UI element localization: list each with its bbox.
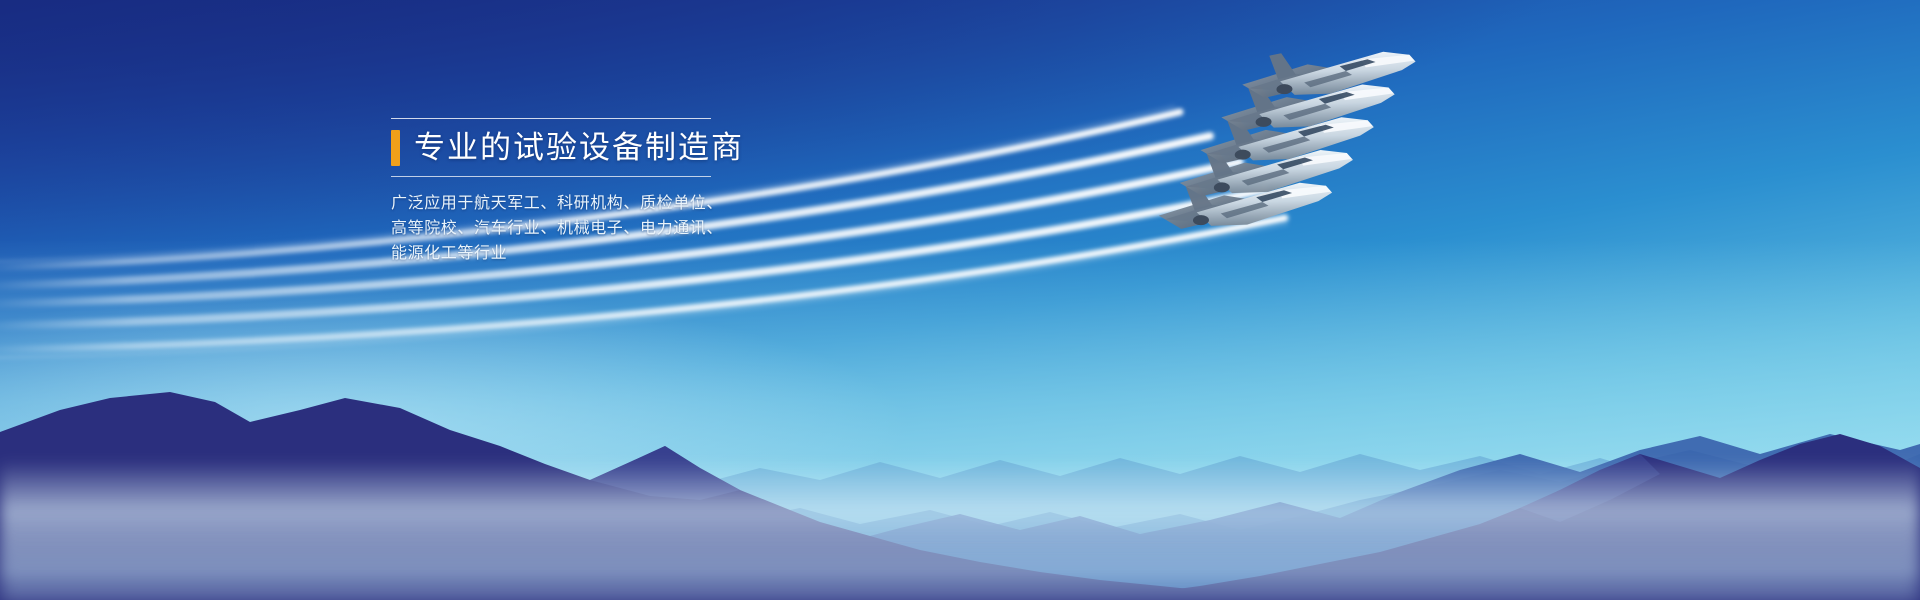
banner-subtitle: 广泛应用于航天军工、科研机构、质检单位、 高等院校、汽车行业、机械电子、电力通讯… [391, 191, 851, 266]
mountain-range-silhouette [0, 350, 1920, 600]
headline-rule-top [391, 118, 711, 119]
fighter-jet-formation [1120, 40, 1500, 270]
page-title: 专业的试验设备制造商 [414, 130, 744, 166]
headline-row: 专业的试验设备制造商 [391, 130, 851, 166]
headline-rule-bottom [391, 176, 711, 177]
subtitle-line-2: 高等院校、汽车行业、机械电子、电力通讯、 [391, 216, 851, 241]
banner-copy: 专业的试验设备制造商 广泛应用于航天军工、科研机构、质检单位、 高等院校、汽车行… [391, 118, 851, 266]
hero-banner: 专业的试验设备制造商 广泛应用于航天军工、科研机构、质检单位、 高等院校、汽车行… [0, 0, 1920, 600]
mountain-mist-lower [0, 530, 1920, 600]
subtitle-line-1: 广泛应用于航天军工、科研机构、质检单位、 [391, 191, 851, 216]
orange-accent-bar [391, 130, 400, 166]
subtitle-line-3: 能源化工等行业 [391, 241, 851, 266]
